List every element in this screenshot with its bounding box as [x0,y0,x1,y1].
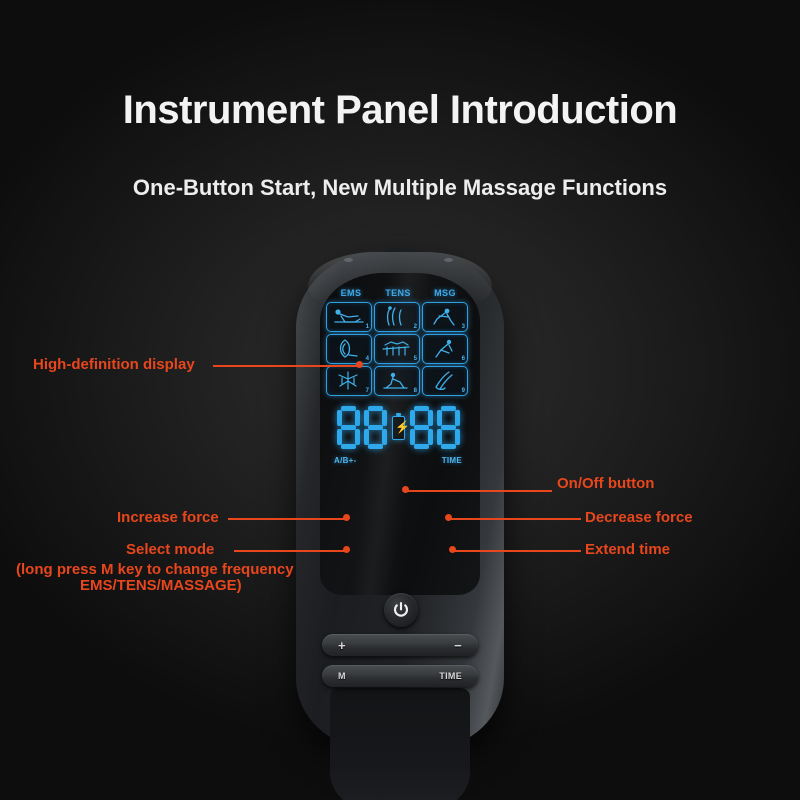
infographic-page: Instrument Panel Introduction One-Button… [0,0,800,800]
digit-left-2 [363,406,388,450]
leader-dot-select-mode [343,546,350,553]
program-number-9: 9 [462,388,465,395]
annotation-decrease-label: Decrease force [585,509,693,527]
digit-right-1 [409,406,434,450]
time-button[interactable]: TIME [439,671,462,681]
program-number-8: 8 [414,388,417,395]
leader-line-display [213,365,361,367]
program-cell-7[interactable]: 7 [326,366,372,396]
leader-dot-increase [343,514,350,521]
mode-label-ems: EMS [328,288,374,298]
program-number-1: 1 [366,324,369,331]
leader-line-decrease [448,518,581,520]
annotation-select-mode-label: Select mode [126,541,214,559]
mode-label-msg: MSG [422,288,468,298]
massager-device: EMS TENS MSG 1 2 [296,248,504,748]
program-number-7: 7 [366,388,369,395]
readout-label-ab: A/B+- [334,456,357,465]
increase-force-button[interactable]: + [338,639,346,652]
battery-charging-icon: ⚡ [392,416,405,440]
program-cell-2[interactable]: 2 [374,302,420,332]
lcd-screen: EMS TENS MSG 1 2 [324,288,476,513]
annotation-increase-label: Increase force [117,509,219,527]
page-subtitle: One-Button Start, New Multiple Massage F… [0,175,800,201]
program-number-5: 5 [414,356,417,363]
seven-segment-readout: ⚡ [326,403,470,453]
annotation-power-label: On/Off button [557,475,654,493]
readout-label-time: TIME [442,456,462,465]
mode-label-row: EMS TENS MSG [328,288,468,298]
leader-dot-power [402,486,409,493]
leader-line-extend-time [452,550,581,552]
leader-dot-decrease [445,514,452,521]
mode-time-bar[interactable]: M TIME [322,665,478,687]
program-cell-5[interactable]: 5 [374,334,420,364]
program-cell-6[interactable]: 6 [422,334,468,364]
program-cell-8[interactable]: 8 [374,366,420,396]
decrease-force-button[interactable]: − [454,639,462,652]
top-vent-dot-right [444,258,453,262]
annotation-select-mode-note-2: EMS/TENS/MASSAGE) [80,577,242,595]
program-number-6: 6 [462,356,465,363]
program-cell-4[interactable]: 4 [326,334,372,364]
top-vent-dot-left [344,258,353,262]
leader-dot-extend-time [449,546,456,553]
device-lower-panel [330,688,470,800]
digit-right-2 [436,406,461,450]
annotation-display-label: High-definition display [33,356,195,374]
program-cell-3[interactable]: 3 [422,302,468,332]
readout-label-row: A/B+- TIME [326,453,470,465]
program-number-4: 4 [366,356,369,363]
power-icon [392,601,410,619]
program-number-2: 2 [414,324,417,331]
digit-left-1 [336,406,361,450]
leader-line-power [404,490,552,492]
mode-button[interactable]: M [338,671,346,681]
program-icon-grid: 1 2 3 [326,302,470,396]
power-button[interactable] [384,593,418,627]
program-number-3: 3 [462,324,465,331]
leader-dot-display [356,361,363,368]
force-rocker-bar[interactable]: + − [322,634,478,656]
program-cell-9[interactable]: 9 [422,366,468,396]
program-cell-1[interactable]: 1 [326,302,372,332]
annotation-extend-time-label: Extend time [585,541,670,559]
leader-line-select-mode [234,550,348,552]
page-title: Instrument Panel Introduction [0,88,800,133]
mode-label-tens: TENS [375,288,421,298]
leader-line-increase [228,518,348,520]
